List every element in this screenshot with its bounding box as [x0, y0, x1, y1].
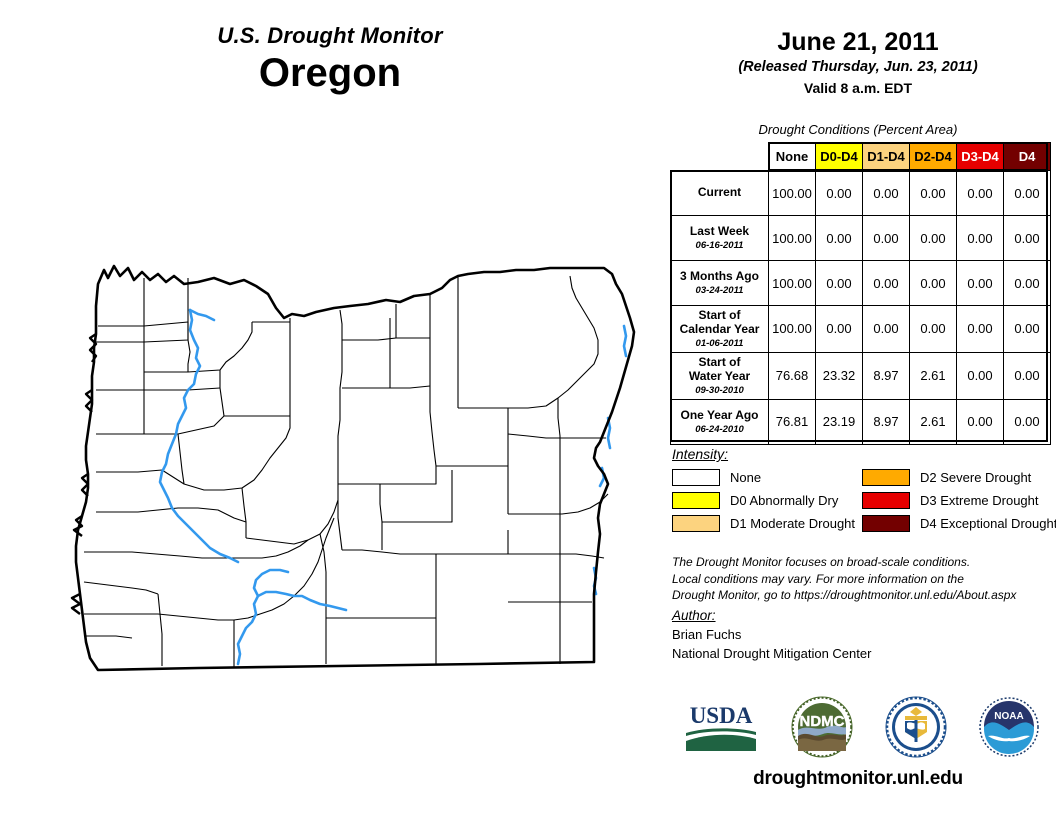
map-title-block: U.S. Drought Monitor Oregon: [0, 24, 660, 96]
usda-logo-text: USDA: [689, 703, 752, 728]
table-cell-value: 0.00: [1004, 171, 1051, 216]
table-cell-value: 23.19: [816, 399, 863, 444]
legend-color-swatch: [862, 492, 910, 509]
table-cell-value: 0.00: [816, 261, 863, 306]
oregon-drought-map[interactable]: [38, 222, 662, 698]
table-cell-value: 23.32: [816, 352, 863, 399]
legend-label: D3 Extreme Drought: [920, 493, 1039, 508]
table-cell-value: 0.00: [863, 216, 910, 261]
table-row: 3 Months Ago03-24-2011100.000.000.000.00…: [671, 261, 1051, 306]
ndmc-logo: NDMC: [791, 696, 853, 758]
table-cell-value: 0.00: [816, 306, 863, 353]
intensity-legend: Intensity: NoneD2 Severe DroughtD0 Abnor…: [672, 446, 1056, 532]
table-cell-value: 0.00: [957, 399, 1004, 444]
table-row: Last Week06-16-2011100.000.000.000.000.0…: [671, 216, 1051, 261]
legend-item: D4 Exceptional Drought: [862, 515, 1056, 532]
author-heading: Author:: [672, 608, 1056, 623]
valid-date: June 21, 2011: [660, 28, 1056, 57]
logo-row: USDA NDMC: [666, 690, 1056, 764]
ndmc-logo-text: NDMC: [800, 713, 845, 730]
row-label-date: 06-16-2011: [673, 240, 766, 251]
table-cell-value: 100.00: [769, 216, 816, 261]
table-cell-value: 2.61: [910, 352, 957, 399]
row-label-line: Start of: [673, 309, 766, 323]
legend-color-swatch: [672, 515, 720, 532]
legend-item: None: [672, 469, 862, 486]
table-cell-value: 0.00: [1004, 352, 1051, 399]
table-cell-value: 0.00: [957, 261, 1004, 306]
table-row: One Year Ago06-24-201076.8123.198.972.61…: [671, 399, 1051, 444]
disclaimer-line-2: Local conditions may vary. For more info…: [672, 571, 1056, 588]
table-cell-value: 100.00: [769, 171, 816, 216]
table-column-header-d4: D4: [1004, 143, 1051, 171]
legend-label: D0 Abnormally Dry: [730, 493, 838, 508]
noaa-logo-text: NOAA: [995, 711, 1024, 722]
table-cell-value: 0.00: [910, 261, 957, 306]
table-corner-cell: [671, 143, 769, 171]
author-name: Brian Fuchs: [672, 626, 1056, 645]
table-cell-value: 0.00: [1004, 216, 1051, 261]
legend-grid: NoneD2 Severe DroughtD0 Abnormally DryD3…: [672, 469, 1056, 532]
table-header-row: NoneD0-D4D1-D4D2-D4D3-D4D4: [671, 143, 1051, 171]
table-cell-value: 0.00: [957, 171, 1004, 216]
table-cell-value: 0.00: [957, 352, 1004, 399]
table-body: Current100.000.000.000.000.000.00Last We…: [671, 171, 1051, 445]
table-row-label: One Year Ago06-24-2010: [671, 399, 769, 444]
table-caption: Drought Conditions (Percent Area): [660, 122, 1056, 137]
table-header: NoneD0-D4D1-D4D2-D4D3-D4D4: [671, 143, 1051, 171]
table-cell-value: 76.68: [769, 352, 816, 399]
row-label-date: 09-30-2010: [673, 385, 766, 396]
legend-label: D4 Exceptional Drought: [920, 516, 1056, 531]
table-row-label: Current: [671, 171, 769, 216]
table-cell-value: 0.00: [863, 306, 910, 353]
legend-item: D1 Moderate Drought: [672, 515, 862, 532]
legend-color-swatch: [672, 492, 720, 509]
drought-monitor-page: U.S. Drought Monitor Oregon: [0, 0, 1056, 816]
drought-conditions-table: NoneD0-D4D1-D4D2-D4D3-D4D4 Current100.00…: [670, 142, 1051, 445]
row-label-date: 01-06-2011: [673, 338, 766, 349]
row-label-line: Current: [673, 186, 766, 200]
row-label-line: Calendar Year: [673, 323, 766, 337]
table-row-label: 3 Months Ago03-24-2011: [671, 261, 769, 306]
info-panel: June 21, 2011 (Released Thursday, Jun. 2…: [660, 0, 1056, 816]
legend-item: D2 Severe Drought: [862, 469, 1056, 486]
disclaimer-line-3: Drought Monitor, go to https://droughtmo…: [672, 587, 1056, 604]
table-cell-value: 0.00: [863, 171, 910, 216]
table-cell-value: 0.00: [1004, 399, 1051, 444]
legend-item: D0 Abnormally Dry: [672, 492, 862, 509]
author-block: Author: Brian Fuchs National Drought Mit…: [672, 608, 1056, 664]
table-column-header-d2-d4: D2-D4: [910, 143, 957, 171]
legend-label: D2 Severe Drought: [920, 470, 1031, 485]
row-label-line: 3 Months Ago: [673, 270, 766, 284]
table-cell-value: 0.00: [816, 216, 863, 261]
table-cell-value: 0.00: [1004, 261, 1051, 306]
release-date: (Released Thursday, Jun. 23, 2011): [660, 57, 1056, 79]
legend-label: D1 Moderate Drought: [730, 516, 855, 531]
table-cell-value: 0.00: [910, 216, 957, 261]
legend-color-swatch: [862, 515, 910, 532]
intensity-heading: Intensity:: [672, 446, 1056, 462]
table-row-label: Last Week06-16-2011: [671, 216, 769, 261]
disclaimer-text: The Drought Monitor focuses on broad-sca…: [672, 554, 1056, 604]
table-column-header-d1-d4: D1-D4: [863, 143, 910, 171]
site-url[interactable]: droughtmonitor.unl.edu: [660, 768, 1056, 790]
table-cell-value: 2.61: [910, 399, 957, 444]
author-organization: National Drought Mitigation Center: [672, 645, 1056, 664]
table-cell-value: 8.97: [863, 352, 910, 399]
map-panel: U.S. Drought Monitor Oregon: [0, 0, 660, 816]
row-label-line: Last Week: [673, 225, 766, 239]
noaa-logo: NOAA: [978, 696, 1040, 758]
table-column-header-d0-d4: D0-D4: [816, 143, 863, 171]
table-row-label: Start ofCalendar Year01-06-2011: [671, 306, 769, 353]
table-cell-value: 0.00: [957, 216, 1004, 261]
table-cell-value: 0.00: [910, 306, 957, 353]
program-title: U.S. Drought Monitor: [0, 24, 660, 48]
disclaimer-line-1: The Drought Monitor focuses on broad-sca…: [672, 554, 1056, 571]
table-row: Start ofWater Year09-30-201076.6823.328.…: [671, 352, 1051, 399]
table-cell-value: 100.00: [769, 306, 816, 353]
legend-item: D3 Extreme Drought: [862, 492, 1056, 509]
valid-time: Valid 8 a.m. EDT: [660, 79, 1056, 98]
date-block: June 21, 2011 (Released Thursday, Jun. 2…: [660, 28, 1056, 97]
row-label-date: 06-24-2010: [673, 424, 766, 435]
table-cell-value: 0.00: [910, 171, 957, 216]
state-title: Oregon: [0, 50, 660, 96]
table-cell-value: 100.00: [769, 261, 816, 306]
row-label-date: 03-24-2011: [673, 285, 766, 296]
table-row: Current100.000.000.000.000.000.00: [671, 171, 1051, 216]
us-department-of-commerce-seal: [885, 696, 947, 758]
row-label-line: Water Year: [673, 370, 766, 384]
table-cell-value: 76.81: [769, 399, 816, 444]
table-cell-value: 8.97: [863, 399, 910, 444]
table-cell-value: 0.00: [957, 306, 1004, 353]
table-column-header-none: None: [769, 143, 816, 171]
usda-logo: USDA: [682, 699, 760, 755]
table-cell-value: 0.00: [863, 261, 910, 306]
row-label-line: One Year Ago: [673, 409, 766, 423]
table-row-label: Start ofWater Year09-30-2010: [671, 352, 769, 399]
table-column-header-d3-d4: D3-D4: [957, 143, 1004, 171]
table-cell-value: 0.00: [1004, 306, 1051, 353]
table-row: Start ofCalendar Year01-06-2011100.000.0…: [671, 306, 1051, 353]
table-cell-value: 0.00: [816, 171, 863, 216]
legend-color-swatch: [862, 469, 910, 486]
row-label-line: Start of: [673, 356, 766, 370]
legend-label: None: [730, 470, 761, 485]
legend-color-swatch: [672, 469, 720, 486]
